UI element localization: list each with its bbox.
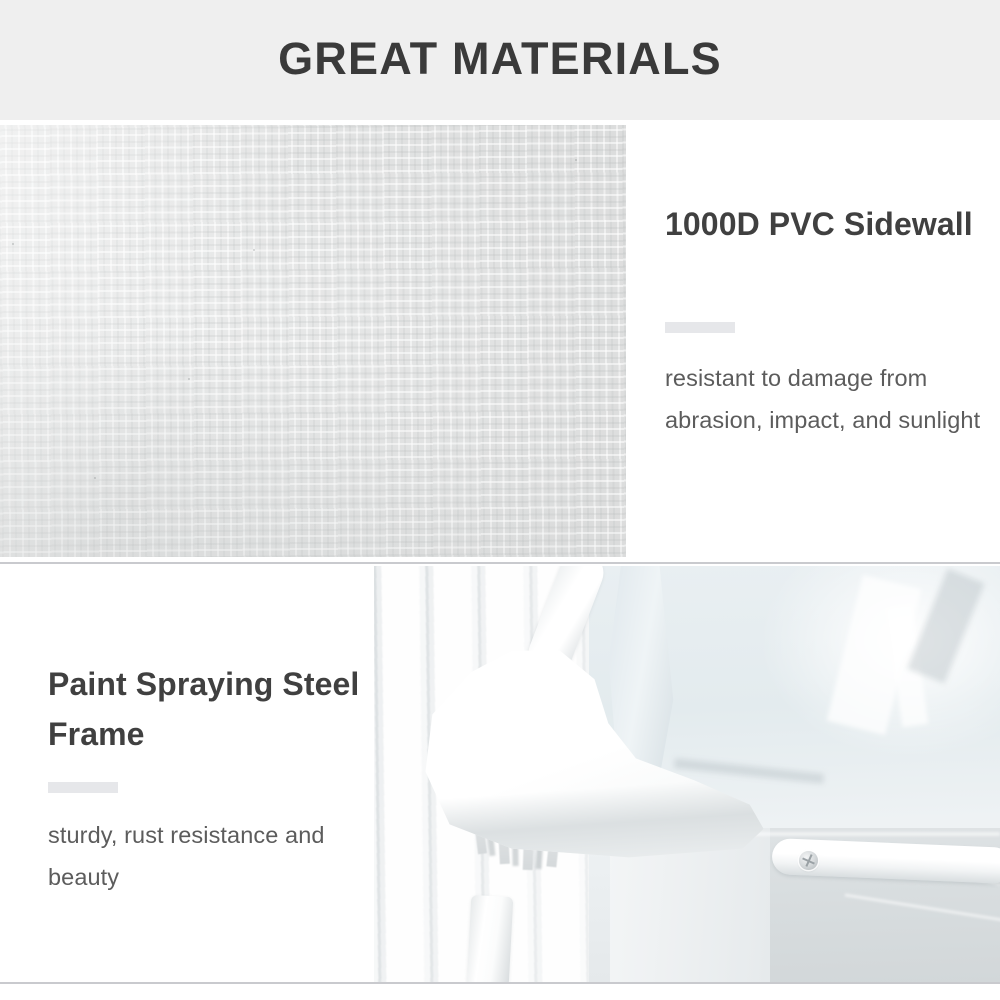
- page-bottom-rule: [0, 982, 1000, 984]
- vertical-frame-leg-tube: [467, 895, 514, 983]
- feature-heading-steel-frame: Paint Spraying Steel Frame: [48, 659, 368, 759]
- fabric-speck: [188, 378, 190, 380]
- steel-frame-text-panel: Paint Spraying Steel Frame sturdy, rust …: [0, 566, 374, 983]
- feature-body-pvc-sidewall: resistant to damage from abrasion, impac…: [665, 357, 1000, 441]
- feature-divider-steel-frame: [48, 782, 118, 793]
- feature-heading-pvc-sidewall: 1000D PVC Sidewall: [665, 199, 995, 249]
- feature-section-pvc-sidewall: 1000D PVC Sidewall resistant to damage f…: [0, 125, 1000, 557]
- feature-divider-pvc-sidewall: [665, 322, 735, 333]
- infographic-page: GREAT MATERIALS 1000D PVC Sidewall resis…: [0, 0, 1000, 1000]
- fabric-speck: [94, 477, 96, 479]
- fabric-speck: [12, 243, 14, 245]
- pvc-woven-fabric-closeup-image: [0, 125, 626, 557]
- fabric-speck: [253, 249, 255, 251]
- page-title: GREAT MATERIALS: [0, 31, 1000, 87]
- feature-body-steel-frame: sturdy, rust resistance and beauty: [48, 814, 358, 898]
- pvc-sidewall-text-panel: 1000D PVC Sidewall resistant to damage f…: [626, 125, 1000, 557]
- fabric-speck: [575, 159, 577, 161]
- feature-section-steel-frame: Paint Spraying Steel Frame sturdy, rust …: [0, 566, 1000, 983]
- pool-frame-corner-joint-closeup-image: [374, 566, 1000, 983]
- section-divider-rule: [0, 562, 1000, 564]
- pvc-sheen-overlay: [0, 125, 626, 557]
